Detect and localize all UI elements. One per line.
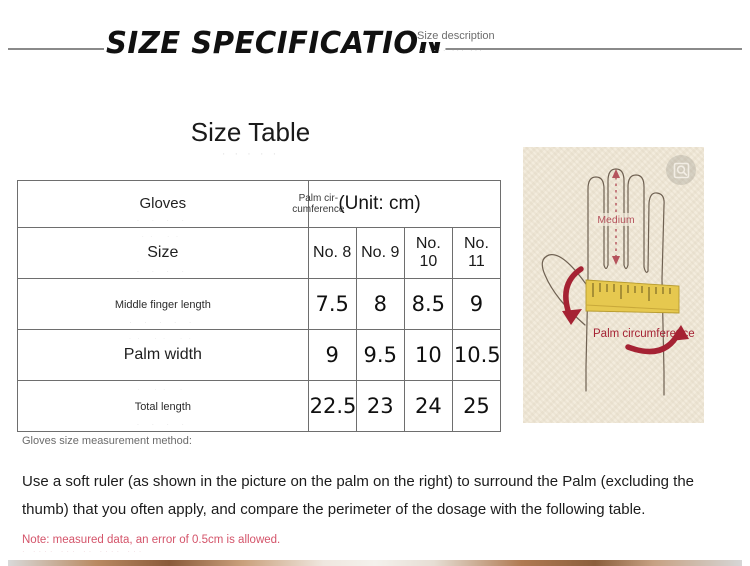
banner-subtitle: Size description [417, 30, 499, 42]
page-title: SIZE SPECIFICATION [104, 22, 445, 66]
data-value: 10 [415, 343, 442, 367]
data-value: 24 [415, 394, 442, 418]
size-table-title: Size Table [0, 117, 501, 148]
table-cell-mfl-11: 9 [452, 279, 500, 330]
row-label-middle-finger-length: Middle finger length [115, 299, 211, 311]
page-banner: SIZE SPECIFICATION Size description · ··… [0, 22, 750, 68]
measurement-method-body: Use a soft ruler (as shown in the pictur… [22, 468, 728, 524]
table-cell-tl-10: 24 [404, 381, 452, 432]
data-value: 10.5 [454, 343, 501, 367]
table-cell-pw-11: 10.5 [452, 330, 500, 381]
row-label-size: Size [147, 244, 178, 261]
table-cell-tl-8: 22.5 [308, 381, 356, 432]
size-value: No. 10 [416, 235, 441, 270]
table-cell-palm-circumference-header: Palm cir- cumference (Unit: cm) [308, 181, 500, 228]
row-label-palm-width: Palm width [124, 346, 202, 363]
ghost-remnant: ·· ·· ·· [70, 334, 255, 340]
size-table: Gloves · · · · Palm cir- cumference (Uni… [17, 180, 501, 432]
palm-circumference-annotation: Palm circumference [593, 328, 695, 340]
size-table-title-ghost: · · · · · [0, 148, 501, 160]
table-cell-row-label-size: ·· ·· Size · · · · [18, 228, 309, 279]
size-value: No. 9 [361, 244, 399, 261]
table-cell-pw-8: 9 [308, 330, 356, 381]
ghost-remnant: · · · · [53, 267, 273, 273]
magnifier-icon[interactable] [666, 155, 696, 185]
measurement-note-ghost: · ···· ··· ·· ···· ··· [22, 547, 144, 556]
size-value: No. 8 [313, 244, 351, 261]
size-value: No. 11 [464, 235, 489, 270]
banner-ghost-text: · ···· ··· ··· [420, 46, 484, 55]
data-value: 9 [470, 292, 483, 316]
data-value: 25 [463, 394, 490, 418]
table-cell-row-label-total-length: · ·· · Total length · · · · [18, 381, 309, 432]
table-cell-mfl-10: 8.5 [404, 279, 452, 330]
table-cell-size-8: No. 8 [308, 228, 356, 279]
ghost-remnant: · · · · [53, 216, 273, 222]
table-cell-tl-11: 25 [452, 381, 500, 432]
gloves-label: Gloves [139, 195, 186, 212]
medium-annotation: Medium [597, 214, 635, 226]
data-value: 8 [374, 292, 387, 316]
table-cell-mfl-9: 8 [356, 279, 404, 330]
table-cell-size-9: No. 9 [356, 228, 404, 279]
table-cell-mfl-8: 7.5 [308, 279, 356, 330]
table-row-size: ·· ·· Size · · · · No. 8 No. 9 No. 10 No… [18, 228, 501, 279]
ghost-remnant: · · · · [53, 420, 273, 426]
table-cell-gloves-label: Gloves · · · · [18, 181, 309, 228]
hand-measurement-image[interactable]: Medium Palm circumference [523, 147, 704, 423]
table-cell-row-label-middle-finger-length: Middle finger length · · · · · [18, 279, 309, 330]
bottom-image-strip [8, 560, 742, 566]
table-cell-size-10: No. 10 [404, 228, 452, 279]
data-value: 9.5 [364, 343, 397, 367]
data-value: 7.5 [315, 292, 348, 316]
ghost-remnant: ·· ·· [70, 232, 255, 238]
table-row-header: Gloves · · · · Palm cir- cumference (Uni… [18, 181, 501, 228]
row-label-total-length: Total length [135, 401, 191, 413]
table-row-total-length: · ·· · Total length · · · · 22.5 23 24 2… [18, 381, 501, 432]
measurement-note: Note: measured data, an error of 0.5cm i… [22, 534, 280, 546]
table-row-palm-width: ·· ·· ·· Palm width 9 9.5 10 10.5 [18, 330, 501, 381]
table-row-middle-finger-length: Middle finger length · · · · · 7.5 8 8.5… [18, 279, 501, 330]
ghost-remnant: · ·· · [70, 385, 255, 391]
data-value: 9 [325, 343, 338, 367]
table-cell-size-11: No. 11 [452, 228, 500, 279]
data-value: 8.5 [412, 292, 445, 316]
table-cell-tl-9: 23 [356, 381, 404, 432]
measurement-method-label: Gloves size measurement method: [22, 435, 222, 448]
ghost-remnant: · · · · · [53, 318, 273, 324]
table-cell-row-label-palm-width: ·· ·· ·· Palm width [18, 330, 309, 381]
unit-overlay-label: (Unit: cm) [338, 193, 420, 215]
table-cell-pw-9: 9.5 [356, 330, 404, 381]
data-value: 23 [367, 394, 394, 418]
data-value: 22.5 [310, 394, 357, 418]
table-cell-pw-10: 10 [404, 330, 452, 381]
